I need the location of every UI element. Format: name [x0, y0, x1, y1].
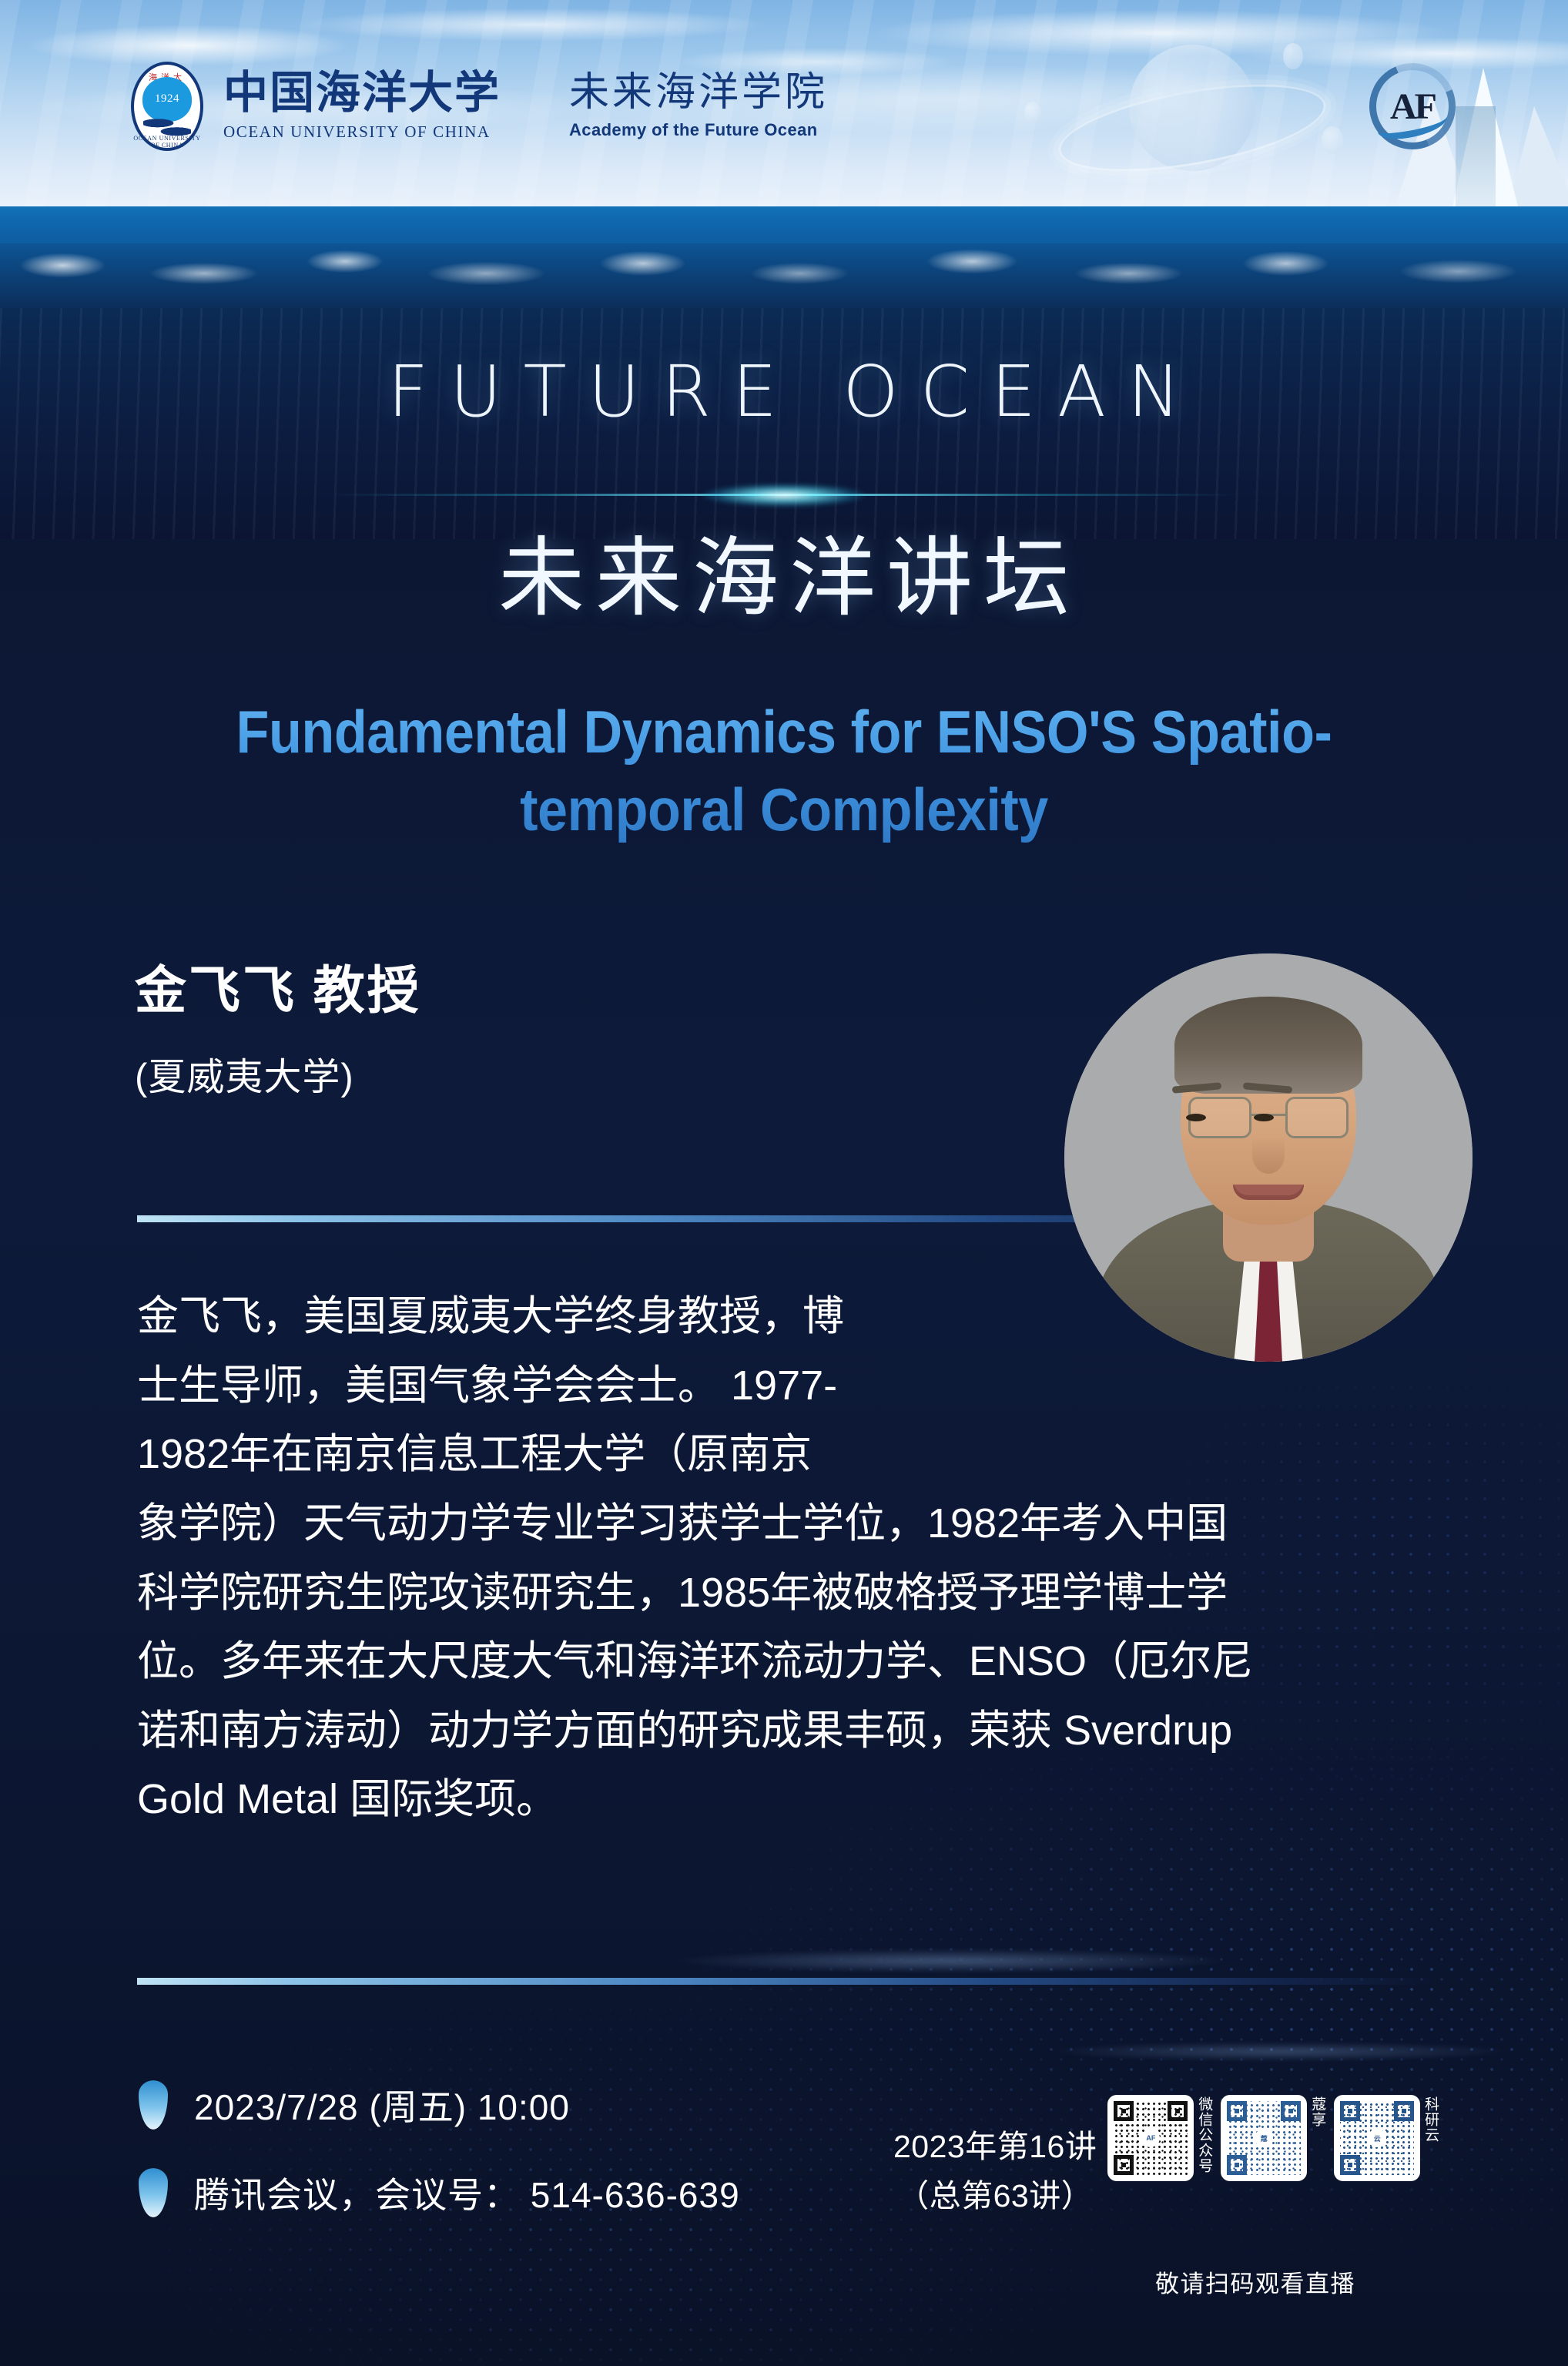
hero-glow-divider [0, 484, 1568, 507]
qr-code-kouxiang[interactable]: 蔻 [1221, 2095, 1307, 2181]
qr-center-logo: AF [1141, 2129, 1160, 2147]
qr-code-item[interactable]: AF 微信公众号 [1107, 2095, 1211, 2181]
speaker-block: 金飞飞 教授 (夏威夷大学) [135, 949, 421, 1101]
lecture-number-total: （总第63讲） [893, 2172, 1097, 2221]
academy-name-en: Academy of the Future Ocean [569, 120, 828, 140]
water-drop-icon [139, 2172, 168, 2214]
seal-year: 1924 [131, 92, 203, 106]
qr-code-list: AF 微信公众号 蔻 蔻享 [1107, 2095, 1438, 2181]
poster-header: 海洋大 1924 OCEAN UNIVERSITY OF CHINA 中国海洋大… [0, 0, 1568, 206]
divider-bottom [137, 1978, 1432, 1985]
ouc-logo-lockup: 海洋大 1924 OCEAN UNIVERSITY OF CHINA 中国海洋大… [131, 62, 828, 151]
university-name-cn: 中国海洋大学 [223, 71, 501, 116]
lecture-title: Fundamental Dynamics for ENSO'S Spatio-t… [176, 693, 1392, 850]
speaker-bio: 金飞飞，美国夏威夷大学终身教授，博 士生导师，美国气象学会会士。 1977- 1… [137, 1282, 1451, 1835]
qr-block: 2023年第16讲 （总第63讲） AF 微信公众号 [893, 2095, 1438, 2220]
meeting-row: 腾讯会议，会议号： 514-636-639 [139, 2167, 740, 2218]
academy-name-cn: 未来海洋学院 [569, 72, 828, 112]
qr-center-logo: 蔻 [1255, 2129, 1273, 2147]
event-datetime: 2023/7/28 (周五) 10:00 [194, 2079, 570, 2130]
event-info-block: 2023/7/28 (周五) 10:00 腾讯会议，会议号： 514-636-6… [139, 2079, 740, 2255]
qr-label-kouxiang: 蔻享 [1309, 2095, 1325, 2181]
qr-label-keyanyun: 科研云 [1422, 2095, 1438, 2181]
af-logo-icon: AF [1369, 63, 1456, 149]
seal-arc-text: OCEAN UNIVERSITY OF CHINA [131, 135, 203, 149]
qr-code-keyanyun[interactable]: 云 [1334, 2095, 1420, 2181]
meeting-info: 腾讯会议，会议号： 514-636-639 [194, 2167, 740, 2218]
speaker-portrait-avatar [1064, 953, 1473, 1362]
hero-title-cn: 未来海洋讲坛 [0, 508, 1568, 633]
hero-title-en: FUTURE OCEAN [0, 350, 1568, 433]
speaker-affiliation: (夏威夷大学) [135, 1047, 421, 1101]
qr-center-logo: 云 [1368, 2129, 1386, 2147]
university-name-en: OCEAN UNIVERSITY OF CHINA [223, 122, 501, 142]
lecture-number: 2023年第16讲 （总第63讲） [893, 2095, 1097, 2220]
scan-instruction: 敬请扫码观看直播 [1155, 2264, 1355, 2299]
qr-code-item[interactable]: 云 科研云 [1334, 2095, 1438, 2181]
lecture-number-year: 2023年第16讲 [893, 2123, 1097, 2172]
ouc-seal-icon: 海洋大 1924 OCEAN UNIVERSITY OF CHINA [131, 62, 203, 151]
water-drop-icon [139, 2084, 168, 2126]
qr-label-wechat: 微信公众号 [1196, 2095, 1211, 2181]
poster-root: 海洋大 1924 OCEAN UNIVERSITY OF CHINA 中国海洋大… [0, 0, 1568, 2366]
speaker-name: 金飞飞 教授 [135, 949, 421, 1024]
datetime-row: 2023/7/28 (周五) 10:00 [139, 2079, 740, 2130]
qr-code-wechat[interactable]: AF [1107, 2095, 1194, 2181]
qr-code-item[interactable]: 蔻 蔻享 [1221, 2095, 1325, 2181]
